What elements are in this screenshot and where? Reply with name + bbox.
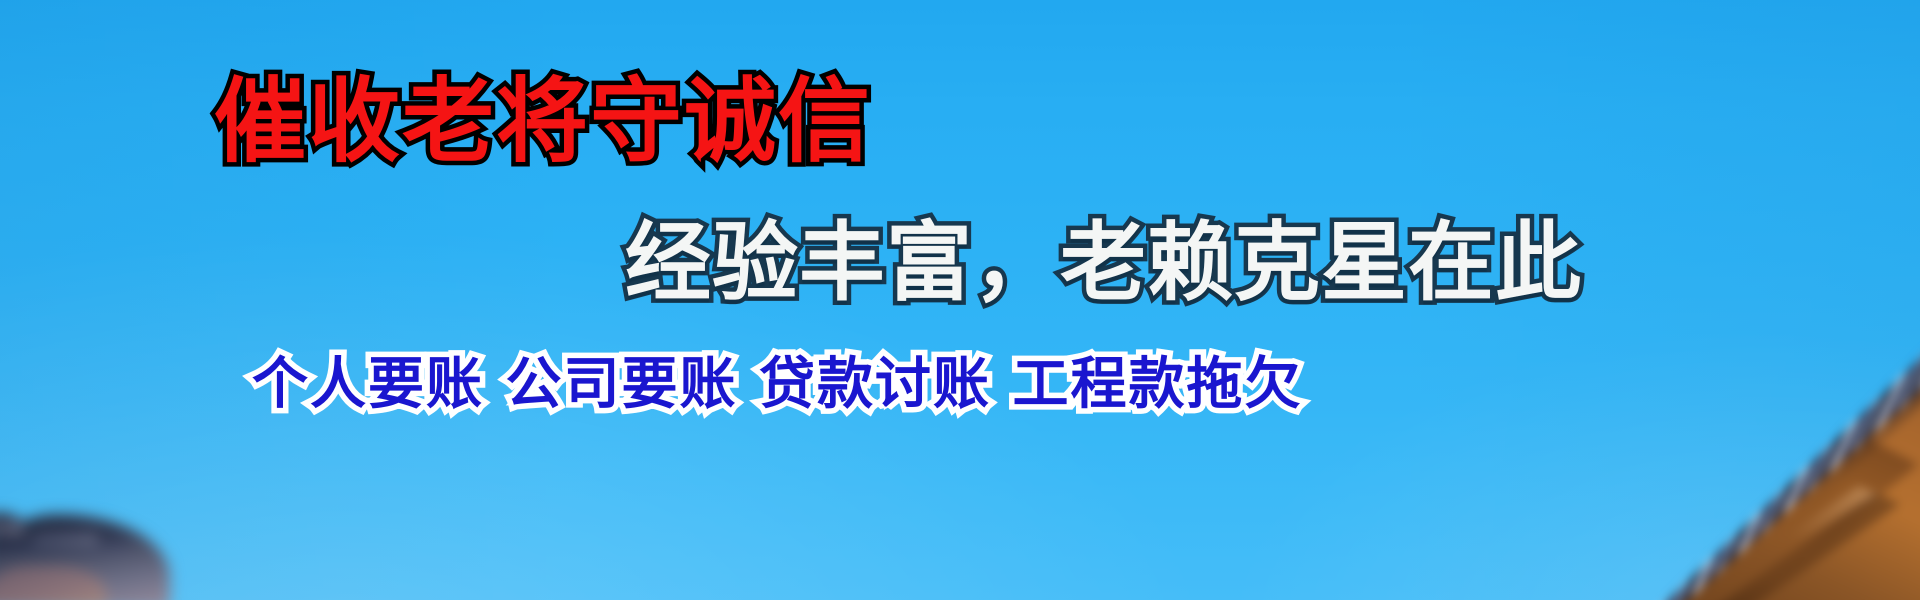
banner-text-layer: 催收老将守诚信 经验丰富，老赖克星在此 个人要账 公司要账 贷款讨账 工程款拖欠 — [0, 0, 1920, 600]
headline-primary: 催收老将守诚信 — [214, 76, 872, 168]
headline-secondary: 经验丰富，老赖克星在此 — [625, 220, 1582, 306]
service-list: 个人要账 公司要账 贷款讨账 工程款拖欠 — [252, 357, 1303, 413]
promotional-banner: 催收老将守诚信 经验丰富，老赖克星在此 个人要账 公司要账 贷款讨账 工程款拖欠 — [0, 0, 1920, 600]
